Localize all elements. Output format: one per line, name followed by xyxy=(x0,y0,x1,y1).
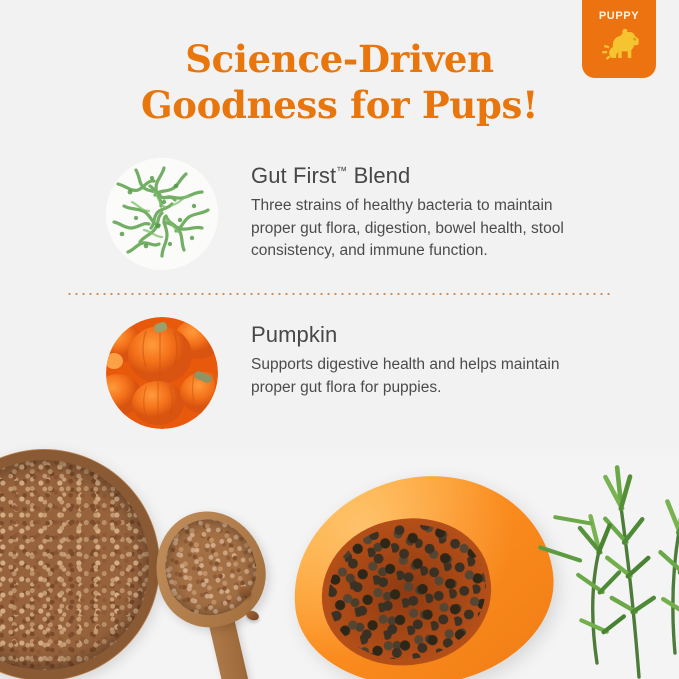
feature-text: Pumpkin Supports digestive health and he… xyxy=(251,317,601,399)
wooden-bowl-of-flaxseeds xyxy=(0,449,160,679)
pumpkin-thumbnail xyxy=(106,317,218,429)
rosemary-sprigs xyxy=(489,439,679,679)
feature-title-main: Pumpkin xyxy=(251,322,337,347)
bacteria-microscopy-image xyxy=(106,158,218,270)
section-divider xyxy=(66,293,614,295)
pumpkins-photo xyxy=(106,317,218,429)
feature-list: Gut First™ Blend Three strains of health… xyxy=(0,158,679,429)
feature-body: Supports digestive health and helps main… xyxy=(251,354,601,399)
page-title: Science-Driven Goodness for Pups! xyxy=(0,36,679,129)
feature-title: Pumpkin xyxy=(251,323,601,347)
feature-title: Gut First™ Blend xyxy=(251,164,601,188)
trademark-icon: ™ xyxy=(336,166,347,178)
ingredient-photo-strip xyxy=(0,439,679,679)
feature-item-gut-first-blend: Gut First™ Blend Three strains of health… xyxy=(0,158,679,270)
feature-item-pumpkin: Pumpkin Supports digestive health and he… xyxy=(0,317,679,429)
puppy-badge-label: PUPPY xyxy=(599,11,639,22)
feature-body: Three strains of healthy bacteria to mai… xyxy=(251,195,601,263)
headline-line-1: Science-Driven xyxy=(185,37,494,81)
headline-line-2: Goodness for Pups! xyxy=(0,82,679,128)
feature-title-suffix: Blend xyxy=(347,163,410,188)
feature-title-main: Gut First xyxy=(251,163,336,188)
feature-text: Gut First™ Blend Three strains of health… xyxy=(251,158,601,263)
promo-infographic: PUPPY Science-Driven Goodness for Pups! xyxy=(0,0,679,679)
probiotic-bacteria-thumbnail xyxy=(106,158,218,270)
flaxseeds-in-bowl xyxy=(0,460,149,670)
